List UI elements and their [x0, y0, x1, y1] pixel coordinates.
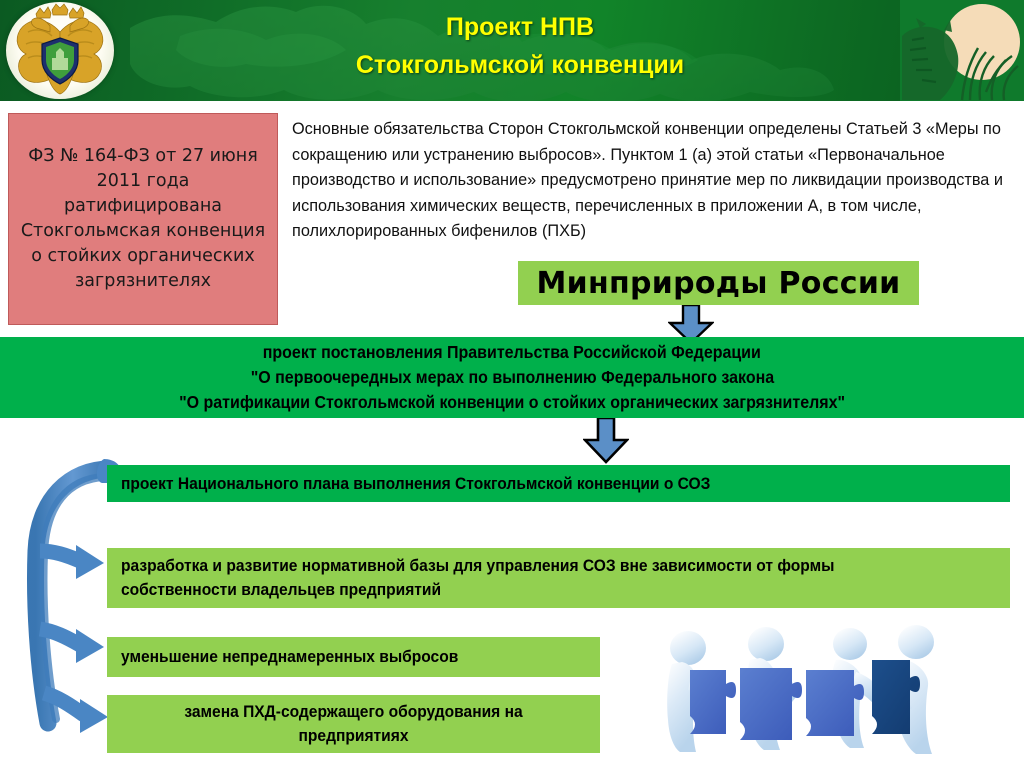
government-decree-band: проект постановления Правительства Росси… — [0, 337, 1024, 418]
puzzle-piece-1 — [690, 670, 736, 734]
down-arrow-to-national-plan — [583, 418, 629, 464]
box-replace-equipment-text: замена ПХД-содержащего оборудования на п… — [133, 700, 575, 748]
box-replace-equipment: замена ПХД-содержащего оборудования на п… — [107, 695, 600, 753]
box-reduce-emissions-text: уменьшение непреднамеренных выбросов — [121, 645, 458, 669]
minprirody-label: Минприроды России — [536, 266, 900, 301]
box-reduce-emissions: уменьшение непреднамеренных выбросов — [107, 637, 600, 677]
box-national-plan: проект Национального плана выполнения Ст… — [107, 465, 1010, 502]
puzzle-people-illustration — [648, 612, 948, 764]
tiger-icon — [900, 0, 1024, 101]
puzzle-piece-2 — [740, 668, 802, 740]
russian-coat-of-arms-emblem — [6, 2, 114, 99]
box-national-plan-text: проект Национального плана выполнения Ст… — [121, 472, 710, 496]
decree-line-3: "О ратификации Стокгольмской конвенции о… — [179, 390, 845, 415]
federal-law-callout-box: ФЗ № 164-ФЗ от 27 июня 2011 года ратифиц… — [8, 113, 278, 325]
tiger-illustration — [900, 0, 1024, 101]
decree-line-1: проект постановления Правительства Росси… — [263, 340, 761, 365]
page-header: Проект НПВ Стокгольмской конвенции — [0, 0, 1024, 101]
federal-law-callout-text: ФЗ № 164-ФЗ от 27 июня 2011 года ратифиц… — [17, 144, 269, 294]
box-normative-base-text: разработка и развитие нормативной базы д… — [121, 554, 952, 602]
minprirody-box: Минприроды России — [518, 261, 919, 305]
box-normative-base: разработка и развитие нормативной базы д… — [107, 548, 1010, 608]
intro-paragraph: Основные обязательства Сторон Стокгольмс… — [292, 117, 1008, 245]
page-title: Проект НПВ Стокгольмской конвенции — [150, 8, 890, 84]
double-headed-eagle-icon — [6, 2, 114, 99]
decree-line-2: "О первоочередных мерах по выполнению Фе… — [250, 365, 773, 390]
